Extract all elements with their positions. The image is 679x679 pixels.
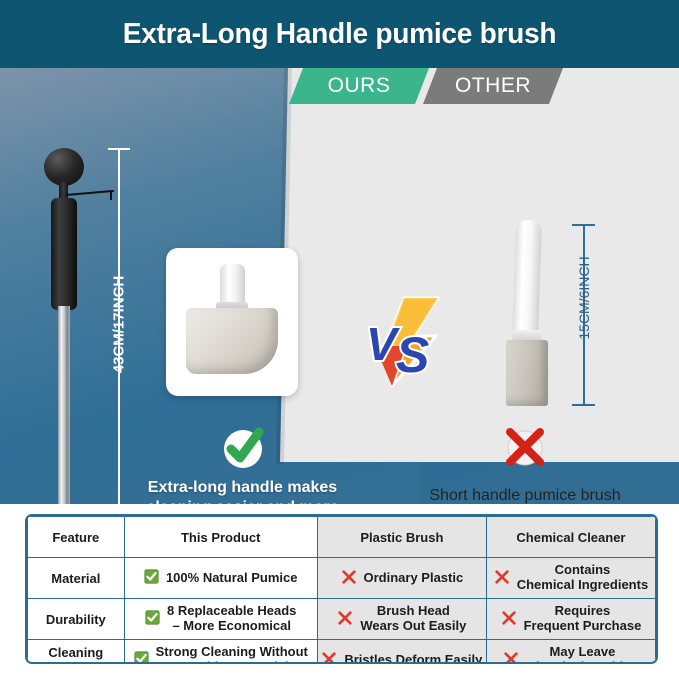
dimension-cap-bottom [572,404,595,406]
red-cross-icon [321,651,337,665]
long-handle-brush-illustration [32,146,102,504]
tab-other[interactable]: OTHER [423,68,569,104]
svg-text:V: V [366,318,400,370]
other-dimension-bracket: 15CM/6INCH [572,224,596,406]
ours-dimension-bracket: 43CM/17INCH [108,148,132,504]
other-verdict-caption: Short handle pumice brush [400,486,650,504]
table-header-row: Feature This Product Plastic Brush Chemi… [28,517,656,558]
steel-rod [58,306,70,504]
rubber-grip [51,198,77,310]
page-title: Extra-Long Handle pumice brush [123,18,557,51]
cell-text: Brush HeadWears Out Easily [360,604,466,633]
cell-text: RequiresFrequent Purchase [524,604,642,633]
cell-plastic-brush: Brush HeadWears Out Easily [317,599,486,640]
short-plastic-handle [512,220,542,341]
green-check-icon [144,569,159,587]
cell-text: May LeaveChemical Residue [526,645,638,664]
table-row: Durability8 Replaceable Heads– More Econ… [28,599,656,640]
cell-this-product: 8 Replaceable Heads– More Economical [124,599,317,640]
svg-text:S: S [396,327,429,383]
red-cross-icon [501,610,517,629]
cell-text: 8 Replaceable Heads– More Economical [167,604,296,633]
cell-this-product: 100% Natural Pumice [124,558,317,599]
cell-feature: Cleaning Power [28,640,125,665]
infographic-page: Extra-Long Handle pumice brush 43CM/17IN… [0,0,679,679]
table-row: Material100% Natural PumiceOrdinary Plas… [28,558,656,599]
green-check-circle-icon [220,425,266,471]
cell-text: Bristles Deform Easily [344,653,482,664]
cell-chemical-cleaner: RequiresFrequent Purchase [486,599,655,640]
product-pumice-block [186,308,278,374]
ours-dimension-label: 43CM/17INCH [111,270,128,380]
product-photo-card [166,248,298,396]
cell-feature: Material [28,558,125,599]
cell-chemical-cleaner: May LeaveChemical Residue [486,640,655,665]
cell-feature: Durability [28,599,125,640]
header-banner: Extra-Long Handle pumice brush [0,0,679,68]
short-handle-brush-illustration [500,220,556,405]
cell-plastic-brush: Ordinary Plastic [317,558,486,599]
comparison-tabs: OURSOTHER [0,68,679,104]
red-cross-icon [503,651,519,665]
versus-badge: V S [352,294,448,390]
cell-this-product: Strong Cleaning WithoutScratching Porcel… [124,640,317,665]
red-cross-icon [494,569,510,588]
cell-plastic-brush: Bristles Deform Easily [317,640,486,665]
comparison-table: Feature This Product Plastic Brush Chemi… [25,514,658,664]
cell-text: 100% Natural Pumice [166,571,298,586]
tab-ours[interactable]: OURS [289,68,435,104]
green-check-icon [145,610,160,628]
comparison-hero: 43CM/17INCH V S [0,68,679,504]
column-header-this-product: This Product [124,517,317,558]
cell-text: Strong Cleaning WithoutScratching Porcel… [156,645,308,664]
column-header-plastic-brush: Plastic Brush [317,517,486,558]
ours-verdict: Extra-long handle makes cleaning easier … [135,425,350,504]
other-dimension-label: 15CM/6INCH [576,248,592,348]
other-verdict: Short handle pumice brush [400,424,650,504]
short-brush-pumice-head [506,340,548,406]
ours-verdict-caption: Extra-long handle makes cleaning easier … [135,478,350,504]
table-row: Cleaning PowerStrong Cleaning WithoutScr… [28,640,656,665]
red-cross-icon [337,610,353,629]
handle-ball-icon [44,148,84,186]
column-header-feature: Feature [28,517,125,558]
cell-chemical-cleaner: ContainsChemical Ingredients [486,558,655,599]
red-cross-icon [341,569,357,588]
red-x-circle-icon [502,424,548,470]
cell-text: Ordinary Plastic [364,571,464,586]
column-header-chemical-cleaner: Chemical Cleaner [486,517,655,558]
cell-text: ContainsChemical Ingredients [517,563,648,592]
green-check-icon [134,651,149,664]
